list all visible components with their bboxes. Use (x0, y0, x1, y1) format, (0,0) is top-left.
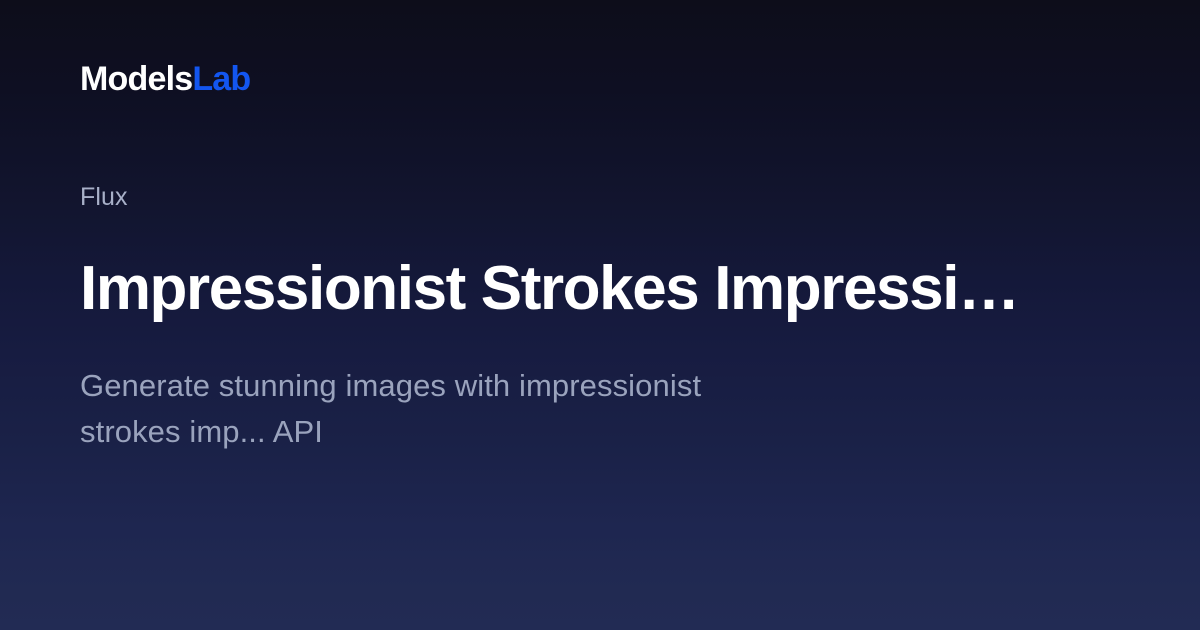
brand-logo[interactable]: Models Lab (80, 62, 250, 96)
brand-logo-accent-text: Lab (192, 62, 250, 96)
category-label: Flux (80, 182, 1090, 212)
page-title: Impressionist Strokes Impressi… (80, 256, 1055, 322)
brand-logo-primary-text: Models (80, 62, 192, 96)
page-subtitle: Generate stunning images with impression… (80, 363, 720, 455)
card-content: Flux Impressionist Strokes Impressi… Gen… (80, 182, 1090, 486)
og-card: Models Lab Flux Impressionist Strokes Im… (0, 0, 1200, 630)
